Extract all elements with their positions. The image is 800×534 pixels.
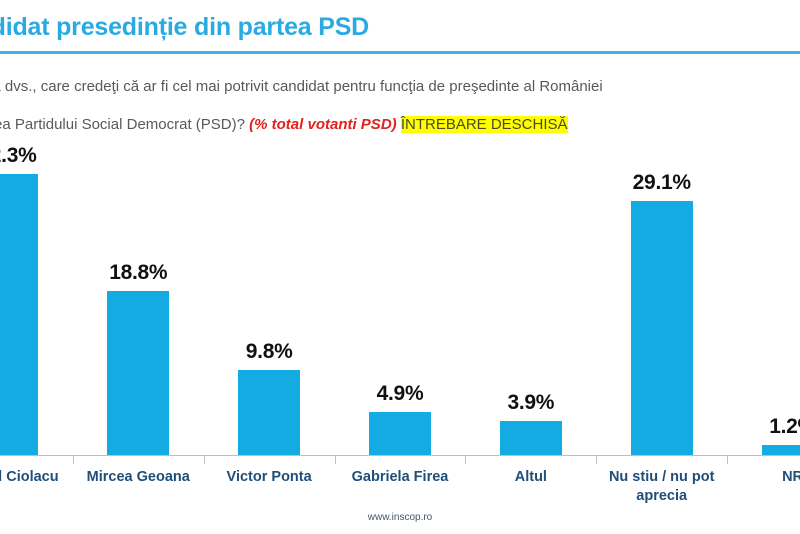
bar[interactable] [0, 174, 38, 455]
bar-value-label: 29.1% [633, 171, 691, 195]
x-axis-line [0, 455, 800, 456]
bar[interactable] [631, 201, 693, 455]
page-title: Candidat presedinție din partea PSD [0, 12, 800, 42]
category-label: Marcel Ciolacu [0, 468, 73, 487]
question-line-1: În opinia dvs., care credeţi că ar fi ce… [0, 68, 800, 106]
plot-area: 32.3%18.8%9.8%4.9%3.9%29.1%1.2% [0, 150, 800, 455]
category-label: Victor Ponta [204, 468, 335, 487]
question-line-2-text: din partea Partidului Social Democrat (P… [0, 116, 245, 133]
slide-canvas: Candidat presedinție din partea PSD În o… [0, 0, 800, 534]
open-question-badge: ÎNTREBARE DESCHISĂ [401, 116, 568, 133]
slide-header: Candidat presedinție din partea PSD [0, 12, 800, 54]
question-block: În opinia dvs., care credeţi că ar fi ce… [0, 68, 800, 144]
bar-value-label: 18.8% [109, 261, 167, 285]
bar-slot: 3.9% [465, 150, 596, 455]
bar-slot: 18.8% [73, 150, 204, 455]
bar-value-label: 4.9% [377, 382, 424, 406]
x-axis-tick [335, 455, 336, 464]
bar[interactable] [762, 445, 800, 455]
bar[interactable] [369, 412, 431, 455]
x-axis-tick [204, 455, 205, 464]
question-emphasis: (% total votanti PSD) [249, 116, 397, 133]
category-label: Gabriela Firea [335, 468, 466, 487]
bar-slot: 9.8% [204, 150, 335, 455]
category-label: NR [727, 468, 800, 487]
x-axis-tick [727, 455, 728, 464]
title-divider [0, 51, 800, 54]
bar[interactable] [107, 291, 169, 455]
bar-slot: 1.2% [727, 150, 800, 455]
bar-chart: 32.3%18.8%9.8%4.9%3.9%29.1%1.2% Marcel C… [0, 150, 800, 460]
bar-value-label: 3.9% [508, 391, 555, 415]
bar[interactable] [500, 421, 562, 455]
category-label: Mircea Geoana [73, 468, 204, 487]
x-axis-tick [73, 455, 74, 464]
bar-slot: 29.1% [596, 150, 727, 455]
bar-value-label: 32.3% [0, 144, 36, 168]
bar-value-label: 1.2% [769, 415, 800, 439]
bar-slot: 4.9% [335, 150, 466, 455]
x-axis-tick [465, 455, 466, 464]
bar-value-label: 9.8% [246, 340, 293, 364]
bar-slot: 32.3% [0, 150, 73, 455]
category-label: Nu stiu / nu pot aprecia [596, 468, 727, 506]
x-axis-tick [596, 455, 597, 464]
bar[interactable] [238, 370, 300, 455]
source-footer: www.inscop.ro [0, 512, 800, 523]
category-label: Altul [465, 468, 596, 487]
question-line-2: din partea Partidului Social Democrat (P… [0, 106, 800, 144]
